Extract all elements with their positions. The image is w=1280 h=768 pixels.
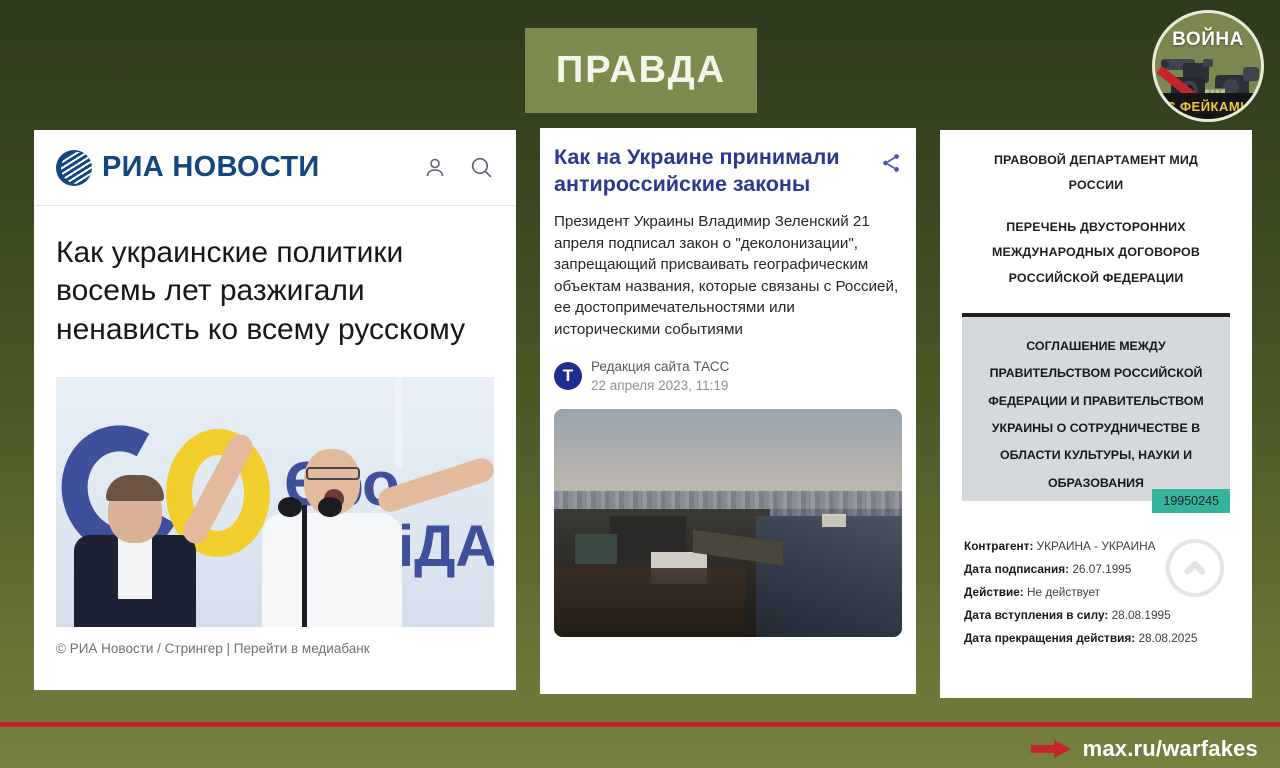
mfa-subtitle-line-1: ПЕРЕЧЕНЬ ДВУСТОРОННИХ [954,215,1238,240]
mfa-department-header: ПРАВОВОЙ ДЕПАРТАМЕНТ МИД РОССИИ [954,148,1238,199]
tass-author: Редакция сайта ТАСС [591,359,729,374]
microphone-stand [302,505,307,627]
tass-card: Как на Украине принимали антироссийские … [540,128,916,694]
ria-brand-label: РИА НОВОСТИ [102,151,320,184]
ria-headline: Как украинские политики восемь лет разжи… [34,206,516,355]
mfa-treaty-metadata: Контрагент: УКРАИНА - УКРАИНА Дата подпи… [964,535,1228,650]
footer-url-group[interactable]: max.ru/warfakes [1031,736,1258,762]
search-icon[interactable] [469,155,494,180]
mfa-header-line-2: РОССИИ [954,173,1238,198]
tass-article-photo [554,409,902,637]
mfa-meta-label-status: Действие: [964,585,1024,599]
mfa-treaty-id-badge: 19950245 [1152,489,1230,513]
ria-photo-caption[interactable]: © РИА Новости / Стрингер | Перейти в мед… [34,627,516,656]
arrow-right-icon [1031,740,1071,758]
mfa-treaty-line-1: СОГЛАШЕНИЕ МЕЖДУ [972,333,1220,360]
mfa-treaty-title-box[interactable]: СОГЛАШЕНИЕ МЕЖДУ ПРАВИТЕЛЬСТВОМ РОССИЙСК… [962,313,1230,501]
mfa-meta-value-signing-date: 26.07.1995 [1072,562,1131,576]
logo-top-label: ВОЙНА [1155,29,1261,51]
scroll-to-top-button[interactable] [1166,539,1224,597]
politician-hair [106,475,164,501]
speaker-body [262,513,402,627]
tass-byline: T Редакция сайта ТАСС 22 апреля 2023, 11… [554,359,902,393]
city-foreground-trees [554,568,745,636]
tass-headline: Как на Украине принимали антироссийские … [554,144,872,198]
mfa-treaty-line-2: ПРАВИТЕЛЬСТВОМ РОССИЙСКОЙ [972,360,1220,387]
tass-header-row: Как на Украине принимали антироссийские … [554,144,902,198]
footer-url-label[interactable]: max.ru/warfakes [1083,736,1258,762]
warfakes-logo: ВОЙНА С ФЕЙКАМИ [1152,10,1264,122]
mfa-registry-subtitle: ПЕРЕЧЕНЬ ДВУСТОРОННИХ МЕЖДУНАРОДНЫХ ДОГО… [954,215,1238,291]
mfa-meta-value-counterparty: УКРАИНА - УКРАИНА [1037,539,1156,553]
logo-band-label: С ФЕЙКАМИ [1166,99,1250,114]
city-lit-facade [822,514,846,528]
mfa-meta-label-signing-date: Дата подписания: [964,562,1069,576]
mfa-meta-value-termination-date: 28.08.2025 [1138,631,1197,645]
city-river [756,516,902,637]
account-icon[interactable] [423,156,447,180]
tass-date: 22 апреля 2023, 11:19 [591,378,729,393]
tass-byline-text: Редакция сайта ТАСС 22 апреля 2023, 11:1… [591,359,729,393]
mfa-meta-value-status: Не действует [1027,585,1100,599]
mfa-treaty-line-3: ФЕДЕРАЦИИ И ПРАВИТЕЛЬСТВОМ [972,388,1220,415]
tass-avatar: T [554,362,582,390]
footer-divider [0,722,1280,727]
politician-shirt [118,537,152,599]
mfa-subtitle-line-3: РОССИЙСКОЙ ФЕДЕРАЦИИ [954,266,1238,291]
mfa-subtitle-line-2: МЕЖДУНАРОДНЫХ ДОГОВОРОВ [954,240,1238,265]
city-green-roof-building [575,534,617,564]
mfa-treaty-line-5: ОБЛАСТИ КУЛЬТУРЫ, НАУКИ И [972,442,1220,469]
ria-header: РИА НОВОСТИ [34,130,516,206]
share-icon[interactable] [880,152,902,174]
ria-header-icons [423,155,494,180]
logo-bottom-band: С ФЕЙКАМИ [1155,93,1261,119]
mfa-treaty-title: СОГЛАШЕНИЕ МЕЖДУ ПРАВИТЕЛЬСТВОМ РОССИЙСК… [972,333,1220,497]
ria-logo-icon [56,150,92,186]
ria-article-photo: Єро іДА [56,377,494,627]
mfa-meta-value-effective-date: 28.08.1995 [1112,608,1171,622]
banner-pole [395,377,402,467]
mfa-treaty-card: ПРАВОВОЙ ДЕПАРТАМЕНТ МИД РОССИИ ПЕРЕЧЕНЬ… [940,130,1252,698]
mfa-header-line-1: ПРАВОВОЙ ДЕПАРТАМЕНТ МИД [954,148,1238,173]
pravda-banner-label: ПРАВДА [556,49,726,92]
mfa-meta-row-effective-date: Дата вступления в силу: 28.08.1995 [964,604,1228,627]
chevron-up-circle-icon [1180,553,1210,583]
pravda-banner: ПРАВДА [525,28,757,113]
logo-inner: ВОЙНА С ФЕЙКАМИ [1155,13,1261,119]
mfa-meta-label-effective-date: Дата вступления в силу: [964,608,1108,622]
mfa-treaty-line-4: УКРАИНЫ О СОТРУДНИЧЕСТВЕ В [972,415,1220,442]
mfa-meta-label-termination-date: Дата прекращения действия: [964,631,1135,645]
banner-text-fragment-2: іДА [398,513,494,580]
mfa-meta-row-termination-date: Дата прекращения действия: 28.08.2025 [964,627,1228,650]
mfa-meta-label-counterparty: Контрагент: [964,539,1033,553]
speaker-glasses [306,467,360,480]
tass-lead-paragraph: Президент Украины Владимир Зеленский 21 … [554,211,902,340]
ria-novosti-card: РИА НОВОСТИ Как украинские политики восе… [34,130,516,690]
